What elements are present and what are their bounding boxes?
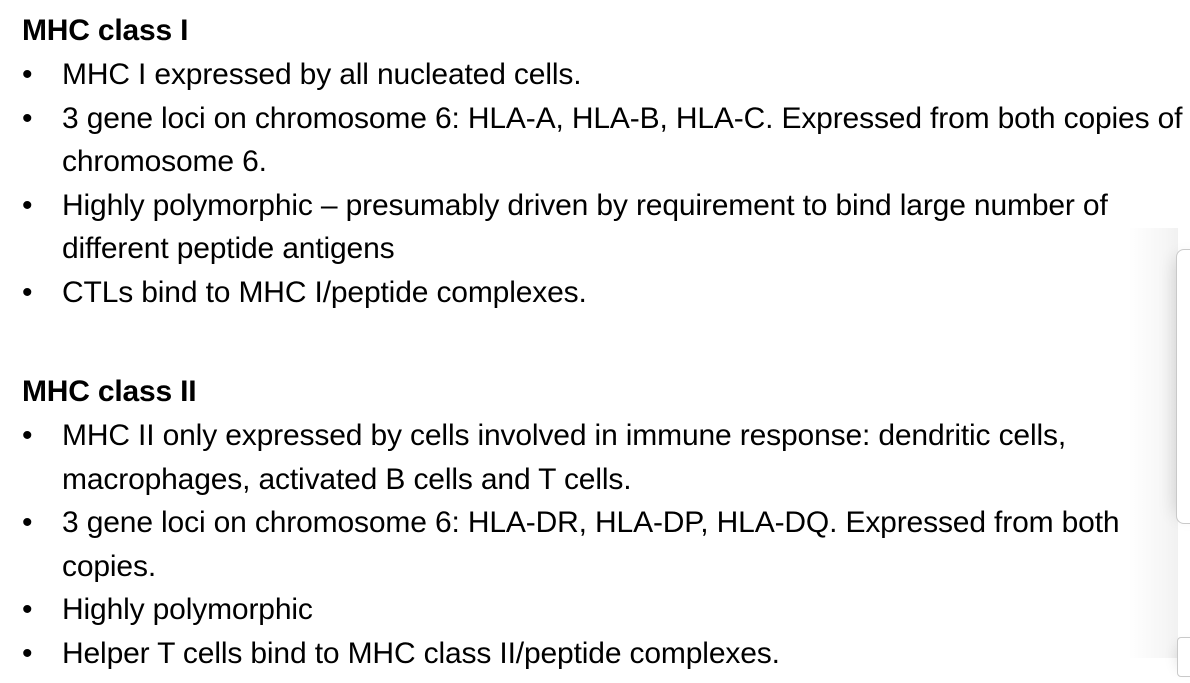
bullet-point-icon: • xyxy=(22,501,38,545)
bullet-point-icon: • xyxy=(22,632,38,676)
list-item-text: Highly polymorphic xyxy=(62,588,1190,632)
list-item-text: 3 gene loci on chromosome 6: HLA-DR, HLA… xyxy=(62,501,1190,588)
list-item-text: Highly polymorphic – presumably driven b… xyxy=(62,184,1190,271)
bullet-point-icon: • xyxy=(22,414,38,458)
list-item-text: Helper T cells bind to MHC class II/pept… xyxy=(62,632,1190,676)
section-heading-mhc-class-i: MHC class I xyxy=(0,9,1190,53)
list-item-text: 3 gene loci on chromosome 6: HLA-A, HLA-… xyxy=(62,97,1190,184)
list-item-text: CTLs bind to MHC I/peptide complexes. xyxy=(62,271,1190,315)
bullet-list-mhc-class-ii: • MHC II only expressed by cells involve… xyxy=(0,414,1190,675)
bullet-point-icon: • xyxy=(22,53,38,97)
slide-content: MHC class I • MHC I expressed by all nuc… xyxy=(0,9,1190,675)
section-mhc-class-ii: MHC class II • MHC II only expressed by … xyxy=(0,370,1190,675)
list-item: • Highly polymorphic xyxy=(0,588,1190,632)
bullet-point-icon: • xyxy=(22,588,38,632)
list-item: • MHC I expressed by all nucleated cells… xyxy=(0,53,1190,97)
list-item-text: MHC II only expressed by cells involved … xyxy=(62,414,1190,501)
bullet-list-mhc-class-i: • MHC I expressed by all nucleated cells… xyxy=(0,53,1190,314)
right-edge-panel-lower xyxy=(1177,637,1190,677)
list-item: • CTLs bind to MHC I/peptide complexes. xyxy=(0,271,1190,315)
list-item: • Helper T cells bind to MHC class II/pe… xyxy=(0,632,1190,676)
right-edge-panel xyxy=(1176,249,1190,524)
list-item: • Highly polymorphic – presumably driven… xyxy=(0,184,1190,271)
bullet-point-icon: • xyxy=(22,184,38,228)
list-item-text: MHC I expressed by all nucleated cells. xyxy=(62,53,1190,97)
slide-canvas: MHC class I • MHC I expressed by all nuc… xyxy=(0,0,1190,683)
section-spacer xyxy=(0,314,1190,370)
section-heading-mhc-class-ii: MHC class II xyxy=(0,370,1190,414)
bullet-point-icon: • xyxy=(22,271,38,315)
list-item: • MHC II only expressed by cells involve… xyxy=(0,414,1190,501)
list-item: • 3 gene loci on chromosome 6: HLA-DR, H… xyxy=(0,501,1190,588)
section-mhc-class-i: MHC class I • MHC I expressed by all nuc… xyxy=(0,9,1190,314)
list-item: • 3 gene loci on chromosome 6: HLA-A, HL… xyxy=(0,97,1190,184)
bullet-point-icon: • xyxy=(22,97,38,141)
